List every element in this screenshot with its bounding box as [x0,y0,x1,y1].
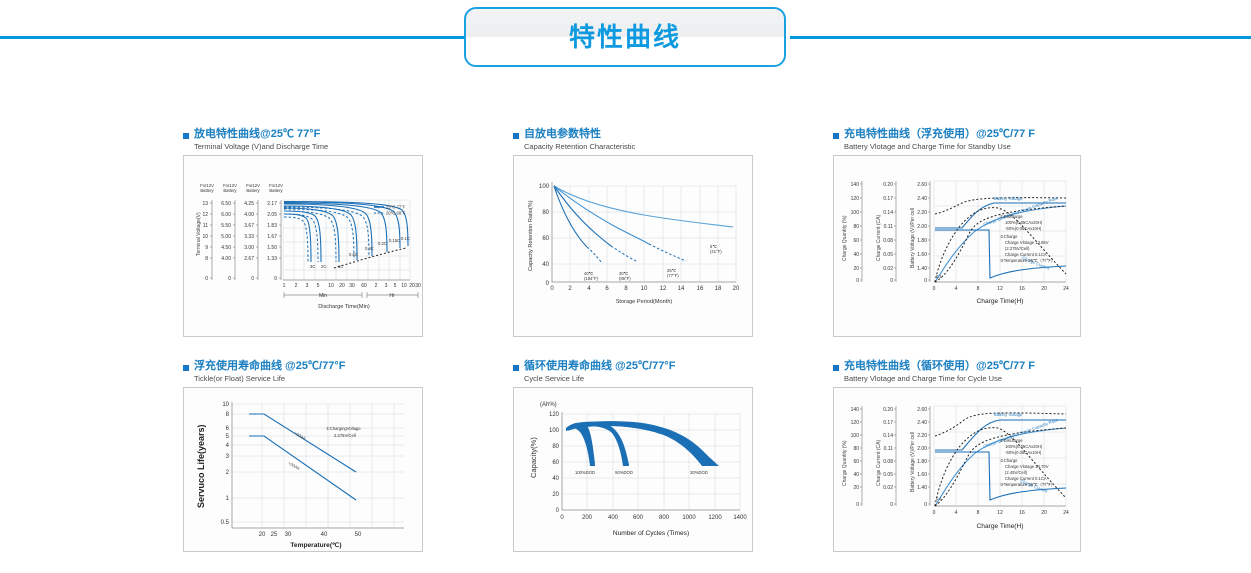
svg-text:5: 5 [317,283,320,289]
svg-text:Battery Voltage (V)/Per cell: Battery Voltage (V)/Per cell [910,208,916,268]
svg-text:Charge Vlotage 13.65V: Charge Vlotage 13.65V [1005,240,1049,245]
svg-text:2.05: 2.05 [267,212,277,218]
svg-text:(41°F): (41°F) [710,249,722,254]
svg-text:9: 9 [205,245,208,251]
bullet-square-icon [513,365,519,371]
svg-text:1.50: 1.50 [267,245,277,251]
svg-text:20: 20 [853,485,859,491]
svg-text:80: 80 [552,444,559,450]
svg-text:8: 8 [624,286,628,292]
svg-text:4: 4 [226,443,230,449]
svg-text:0: 0 [924,278,927,284]
panel-title-cn: 循环使用寿命曲线 @25℃/77°F [524,360,675,373]
svg-text:0.05: 0.05 [883,472,893,478]
svg-text:2: 2 [226,470,230,476]
chart-float-life: 10865 43210.5 Servuco Life(years) >33Ah … [184,388,422,551]
chart-cycle-life: (Ah%) 120100806040200 Capacity(%) 100%DO [514,388,752,551]
svg-text:0.17: 0.17 [883,420,893,426]
svg-text:0.02: 0.02 [883,485,893,491]
svg-text:1.33: 1.33 [267,256,277,262]
svg-text:1: 1 [283,283,286,289]
chart-frame: (Ah%) 120100806040200 Capacity(%) 100%DO [513,387,753,552]
svg-text:12: 12 [202,212,208,218]
svg-text:20: 20 [259,532,266,538]
svg-text:0.05: 0.05 [883,252,893,258]
svg-text:100%(0.05CAx20H): 100%(0.05CAx20H) [1005,444,1043,449]
svg-text:60: 60 [361,283,367,289]
svg-text:2: 2 [568,286,572,292]
panel-header: 循环使用寿命曲线 @25℃/77°F [513,360,753,373]
svg-text:Min: Min [319,293,327,299]
svg-text:0.4C: 0.4C [365,246,374,251]
svg-text:2: 2 [295,283,298,289]
svg-text:0.15C: 0.15C [389,238,400,243]
svg-text:1: 1 [226,496,230,502]
svg-text:2: 2 [375,283,378,289]
svg-text:3: 3 [385,283,388,289]
svg-text:(104°F): (104°F) [584,276,599,281]
panel-title-en: Battery Vlotage and Charge Time for Stan… [844,142,1081,151]
svg-text:0: 0 [933,510,936,516]
chart-charge-cycle: 140120100806040200 0.200.170.140.110.080… [834,388,1080,551]
chart-frame: For12VBattery For12VBattery For12VBatter… [183,155,423,337]
svg-text:60: 60 [552,460,559,466]
svg-text:0.08: 0.08 [883,238,893,244]
bullet-square-icon [183,365,189,371]
y-axis-label: Capacity(%) [529,437,538,478]
svg-text:1000: 1000 [682,515,696,521]
svg-text:0: 0 [205,276,208,282]
svg-text:(2.45V/Cell): (2.45V/Cell) [1005,470,1028,475]
panel-title-en: Tickle(or Float) Service Life [194,374,423,383]
svg-text:1.40: 1.40 [917,485,927,491]
svg-text:3: 3 [306,283,309,289]
svg-text:24: 24 [1063,286,1069,292]
svg-text:80: 80 [853,446,859,452]
svg-text:25: 25 [271,532,278,538]
svg-text:①Discharge: ①Discharge [1000,438,1023,443]
x-axis-label: Storage Period(Month) [616,299,673,305]
svg-text:0: 0 [924,502,927,508]
svg-text:③Temperature 25℃（77℉）: ③Temperature 25℃（77℉） [1000,482,1055,487]
svg-text:0: 0 [933,286,936,292]
svg-text:30: 30 [415,283,421,289]
chart-capacity-retention: 1008060400 Capacity Retention Ratio(%) 5… [514,156,752,336]
svg-text:0.20: 0.20 [883,182,893,188]
svg-text:10: 10 [328,283,334,289]
svg-text:20: 20 [552,492,559,498]
svg-text:25℃ 77°F: 25℃ 77°F [386,205,406,210]
panel-title-en: Cycle Service Life [524,374,753,383]
svg-text:2C: 2C [321,264,326,269]
svg-text:140: 140 [851,182,860,188]
svg-text:6: 6 [605,286,609,292]
svg-text:80: 80 [542,210,549,216]
svg-text:6.00: 6.00 [221,212,231,218]
svg-text:40: 40 [552,476,559,482]
svg-text:40: 40 [321,532,328,538]
svg-text:800: 800 [659,515,670,521]
svg-text:16: 16 [1019,286,1025,292]
svg-text:Battery: Battery [246,188,260,193]
svg-text:8: 8 [977,286,980,292]
svg-text:140: 140 [851,407,860,413]
svg-text:Battery: Battery [200,188,214,193]
svg-text:100%(0.05CAx20H): 100%(0.05CAx20H) [1005,220,1043,225]
svg-text:4: 4 [955,510,958,516]
svg-text:0: 0 [550,286,554,292]
svg-text:20: 20 [409,283,415,289]
svg-text:30%DOD: 30%DOD [690,470,708,475]
svg-text:1.60: 1.60 [917,472,927,478]
svg-text:10: 10 [222,402,229,408]
svg-text:100: 100 [851,433,860,439]
bullet-square-icon [833,133,839,139]
chart-frame: 140120100806040200 0.200.170.140.110.080… [833,155,1081,337]
svg-text:2.40: 2.40 [917,196,927,202]
panel-header: 自放电参数特性 [513,128,753,141]
svg-text:5.00: 5.00 [221,234,231,240]
svg-text:40: 40 [853,252,859,258]
svg-text:(86°F): (86°F) [619,276,631,281]
svg-text:10: 10 [401,283,407,289]
svg-text:1.80: 1.80 [917,459,927,465]
svg-text:18: 18 [715,286,722,292]
panel-title-cn: 充电特性曲线（循环使用）@25℃/77 F [844,360,1035,373]
svg-text:20: 20 [733,286,740,292]
svg-text:0: 0 [546,281,550,287]
svg-text:Hr: Hr [389,293,395,299]
svg-text:4: 4 [955,286,958,292]
svg-text:0.5: 0.5 [221,520,230,526]
svg-text:2.20: 2.20 [917,433,927,439]
svg-text:5.50: 5.50 [221,223,231,229]
svg-text:Charge Current 0.1CA: Charge Current 0.1CA [1005,476,1047,481]
panel-title-en: Capacity Retention Characteristic [524,142,753,151]
chart-frame: 10865 43210.5 Servuco Life(years) >33Ah … [183,387,423,552]
svg-text:Charge Current (CA): Charge Current (CA) [876,215,882,261]
svg-text:0.08: 0.08 [883,459,893,465]
panel-title-en: Terminal Voltage (V)and Discharge Time [194,142,423,151]
svg-text:0.6C: 0.6C [349,252,358,257]
svg-text:1.67: 1.67 [267,234,277,240]
svg-text:4.00: 4.00 [244,212,254,218]
svg-text:16: 16 [697,286,704,292]
y-axis-label: Capacity Retention Ratio(%) [528,200,534,271]
svg-text:10: 10 [202,234,208,240]
svg-text:100: 100 [851,210,860,216]
svg-text:4.00: 4.00 [221,256,231,262]
bullet-square-icon [833,365,839,371]
panel-discharge-characteristics: 放电特性曲线@25℃ 77°F Terminal Voltage (V)and … [183,128,423,337]
panel-self-discharge: 自放电参数特性 Capacity Retention Characteristi… [513,128,753,337]
bullet-square-icon [513,133,519,139]
svg-text:0: 0 [890,502,893,508]
svg-text:·50%(0.05CAx10H): ·50%(0.05CAx10H) [1005,450,1042,455]
svg-text:Charge Current (CA): Charge Current (CA) [876,440,882,486]
svg-text:0.11: 0.11 [884,224,894,230]
svg-text:Battery Voltage (V)/Per cell: Battery Voltage (V)/Per cell [910,432,916,492]
panel-charge-standby: 充电特性曲线（浮充使用）@25℃/77 F Battery Vlotage an… [833,128,1081,337]
svg-text:0: 0 [274,276,277,282]
svg-text:200: 200 [582,515,593,521]
svg-text:0: 0 [856,502,859,508]
svg-text:①ChargingVoltage: ①ChargingVoltage [326,426,361,431]
svg-text:40: 40 [542,262,549,268]
svg-text:5: 5 [226,434,230,440]
svg-text:100%DOD: 100%DOD [575,470,595,475]
svg-text:60: 60 [853,459,859,465]
svg-text:400: 400 [608,515,619,521]
svg-text:16: 16 [1019,510,1025,516]
svg-text:1.83: 1.83 [267,223,277,229]
svg-text:2.00: 2.00 [917,446,927,452]
svg-text:4.25: 4.25 [244,201,254,207]
svg-text:0: 0 [890,278,893,284]
svg-text:0.1: 0.1 [936,274,942,279]
svg-text:2.275V/Cell: 2.275V/Cell [334,433,356,438]
svg-text:(77°F): (77°F) [667,273,679,278]
svg-text:6.50: 6.50 [221,201,231,207]
panel-title-cn: 充电特性曲线（浮充使用）@25℃/77 F [844,128,1035,141]
svg-text:8: 8 [205,256,208,262]
svg-text:8: 8 [977,510,980,516]
panel-title-cn: 浮充使用寿命曲线 @25℃/77°F [194,360,345,373]
svg-text:0: 0 [560,515,564,521]
svg-text:(2.275V/Cell): (2.275V/Cell) [1005,246,1030,251]
svg-text:0: 0 [856,278,859,284]
svg-text:4: 4 [587,286,591,292]
svg-text:2.17: 2.17 [267,201,277,207]
svg-text:2.20: 2.20 [917,210,927,216]
svg-text:·50%(0.05CAx10H): ·50%(0.05CAx10H) [1005,226,1042,231]
banner-box: 特性曲线 [464,7,786,67]
svg-text:80: 80 [853,224,859,230]
svg-text:3: 3 [226,454,230,460]
panel-header: 充电特性曲线（浮充使用）@25℃/77 F [833,128,1081,141]
svg-text:12: 12 [660,286,667,292]
svg-text:0.20: 0.20 [883,407,893,413]
chart-notes: ①Discharge 100%(0.05CAx20H) ·50%(0.05CAx… [1000,214,1055,263]
svg-text:20℃ 68°F: 20℃ 68°F [386,211,406,216]
panel-cycle-service-life: 循环使用寿命曲线 @25℃/77°F Cycle Service Life (A… [513,360,753,552]
x-axis-label: Charge Time(H) [977,298,1024,305]
svg-text:120: 120 [851,196,860,202]
svg-text:2.60: 2.60 [917,407,927,413]
svg-text:2.00: 2.00 [917,224,927,230]
svg-text:4.50: 4.50 [221,245,231,251]
x-axis-label: Temperature(℃) [290,541,341,549]
panel-header: 浮充使用寿命曲线 @25℃/77°F [183,360,423,373]
svg-text:10: 10 [641,286,648,292]
chart-frame: 1008060400 Capacity Retention Ratio(%) 5… [513,155,753,337]
svg-text:24: 24 [1063,510,1069,516]
banner-rule-left [0,36,470,39]
svg-text:5: 5 [394,283,397,289]
svg-text:Charge Quantity (%): Charge Quantity (%) [842,440,848,486]
svg-text:100: 100 [539,184,550,190]
svg-text:600: 600 [633,515,644,521]
chart-frame: 140120100806040200 0.200.170.140.110.080… [833,387,1081,552]
panel-header: 充电特性曲线（循环使用）@25℃/77 F [833,360,1081,373]
svg-text:20: 20 [853,266,859,272]
svg-text:2.40: 2.40 [917,420,927,426]
x-axis-label: Charge Time(H) [977,523,1024,530]
svg-text:Charge Vlotage 14.70V: Charge Vlotage 14.70V [1005,464,1049,469]
svg-text:0.02: 0.02 [883,266,893,272]
svg-text:60: 60 [853,238,859,244]
svg-text:1200: 1200 [708,515,722,521]
svg-text:30: 30 [349,283,355,289]
svg-text:0.11: 0.11 [884,446,894,452]
svg-text:60: 60 [542,236,549,242]
svg-text:20: 20 [339,283,345,289]
svg-text:8: 8 [226,412,230,418]
svg-text:50: 50 [355,532,362,538]
panel-charge-cycle: 充电特性曲线（循环使用）@25℃/77 F Battery Vlotage an… [833,360,1081,552]
svg-text:0.17: 0.17 [883,196,893,202]
svg-text:<33Ah: <33Ah [288,461,302,472]
y-axis-label: Servuco Life(years) [196,425,206,509]
svg-text:Battery: Battery [223,188,237,193]
y-axis-label: Terminal Voltage(V) [196,212,202,256]
svg-text:②Charge: ②Charge [1000,458,1018,463]
x-axis-label: Discharge Time(Min) [318,304,370,310]
svg-text:120: 120 [851,420,860,426]
svg-text:Charge Quantity (%): Charge Quantity (%) [842,215,848,261]
svg-text:0.14: 0.14 [883,433,893,439]
svg-text:1.60: 1.60 [917,252,927,258]
svg-text:Battery: Battery [269,188,283,193]
svg-text:3.00: 3.00 [244,245,254,251]
svg-text:Battery Voltage: Battery Voltage [994,412,1023,417]
svg-text:1.80: 1.80 [917,238,927,244]
svg-text:2.67: 2.67 [244,256,254,262]
x-axis-label: Number of Cycles (Times) [613,530,689,537]
svg-text:100: 100 [549,428,560,434]
panel-header: 放电特性曲线@25℃ 77°F [183,128,423,141]
svg-text:13: 13 [202,201,208,207]
svg-text:120: 120 [549,412,560,418]
svg-text:3C: 3C [310,264,315,269]
svg-text:11: 11 [203,223,208,229]
svg-text:12: 12 [997,510,1003,516]
svg-text:14: 14 [678,286,685,292]
svg-text:0: 0 [556,508,560,514]
svg-text:6: 6 [226,426,230,432]
panel-title-cn: 自放电参数特性 [524,128,601,141]
svg-text:③Temperature 25℃（77℉）: ③Temperature 25℃（77℉） [1000,258,1055,263]
svg-text:50%DOD: 50%DOD [615,470,633,475]
svg-text:①Discharge: ①Discharge [1000,214,1023,219]
svg-text:0.14: 0.14 [883,210,893,216]
svg-text:0.1: 0.1 [936,496,942,501]
svg-text:20: 20 [1041,510,1047,516]
chart-discharge: For12VBattery For12VBattery For12VBatter… [184,156,422,336]
svg-text:40: 40 [853,472,859,478]
svg-text:0: 0 [251,276,254,282]
panel-title-en: Battery Vlotage and Charge Time for Cycl… [844,374,1081,383]
svg-text:Charge Current 0.1CA: Charge Current 0.1CA [1005,252,1047,257]
svg-text:1.40: 1.40 [917,266,927,272]
svg-text:2.60: 2.60 [917,182,927,188]
panel-title-cn: 放电特性曲线@25℃ 77°F [194,128,320,141]
banner-rule-right [790,36,1251,39]
svg-text:12: 12 [997,286,1003,292]
panel-float-service-life: 浮充使用寿命曲线 @25℃/77°F Tickle(or Float) Serv… [183,360,423,552]
svg-text:1400: 1400 [733,515,747,521]
svg-text:0.2C: 0.2C [378,241,387,246]
svg-text:Battery Voltage: Battery Voltage [994,196,1023,201]
charts-grid: 放电特性曲线@25℃ 77°F Terminal Voltage (V)and … [0,110,1251,573]
page-banner: 特性曲线 [0,0,1251,80]
bullet-square-icon [183,133,189,139]
svg-text:0: 0 [228,276,231,282]
svg-text:30: 30 [285,532,292,538]
svg-text:20: 20 [1041,286,1047,292]
chart-charge-standby: 140120100806040200 0.200.170.140.110.080… [834,156,1080,336]
page-title: 特性曲线 [569,24,681,50]
svg-text:0.1C: 0.1C [401,236,410,241]
unit-label: (Ah%) [540,402,557,408]
svg-text:3.33: 3.33 [244,234,254,240]
svg-text:3.67: 3.67 [244,223,254,229]
svg-text:②Charge: ②Charge [1000,234,1018,239]
chart-notes: ①Discharge 100%(0.05CAx20H) ·50%(0.05CAx… [1000,438,1055,487]
